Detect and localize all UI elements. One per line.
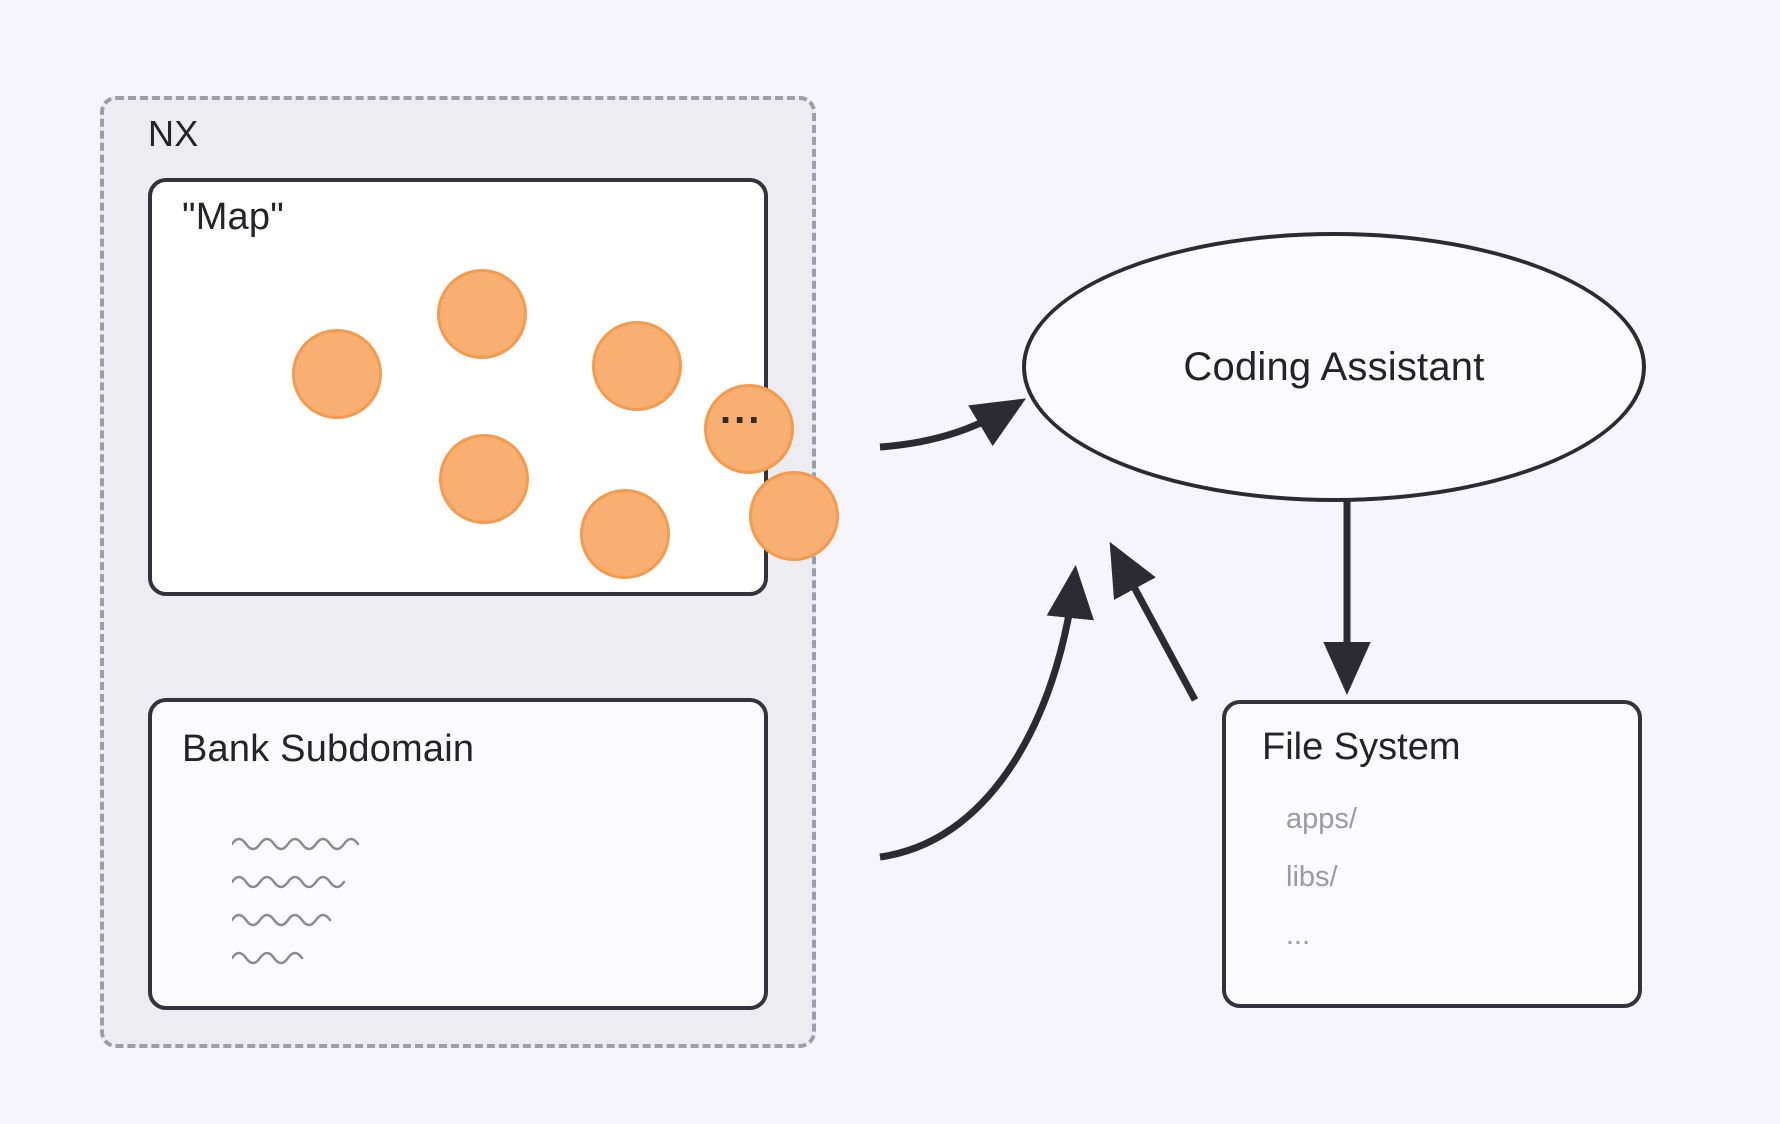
- map-ellipsis: ...: [720, 390, 762, 430]
- squiggle-line-4: [232, 953, 302, 963]
- graph-node-1[interactable]: [292, 329, 382, 419]
- edge-bank-to-assistant: [880, 572, 1075, 857]
- squiggle-line-1: [232, 839, 358, 849]
- list-item: ...: [1286, 920, 1357, 952]
- list-item: apps/: [1286, 804, 1357, 836]
- squiggle-line-2: [232, 877, 344, 887]
- graph-node-2[interactable]: [437, 269, 527, 359]
- graph-node-6[interactable]: [580, 489, 670, 579]
- bank-subdomain-card[interactable]: Bank Subdomain: [148, 698, 768, 1010]
- graph-node-4[interactable]: [439, 434, 529, 524]
- nx-label: NX: [148, 113, 199, 155]
- diagram-canvas: NX "Map" ... Bank Subdomain Coding Assis…: [0, 0, 1780, 1124]
- edge-filesystem-to-assistant: [1113, 548, 1195, 700]
- squiggle-line-3: [232, 915, 330, 925]
- map-card[interactable]: "Map" ...: [148, 178, 768, 596]
- file-system-list: apps/ libs/ ...: [1286, 804, 1357, 978]
- coding-assistant-node[interactable]: Coding Assistant: [1022, 232, 1646, 502]
- map-card-title: "Map": [182, 196, 284, 239]
- graph-node-7[interactable]: [749, 471, 839, 561]
- placeholder-squiggles: [232, 832, 432, 992]
- file-system-title: File System: [1262, 726, 1460, 769]
- edge-map-to-assistant: [880, 402, 1020, 447]
- list-item: libs/: [1286, 862, 1357, 894]
- coding-assistant-label: Coding Assistant: [1183, 345, 1484, 390]
- bank-subdomain-title: Bank Subdomain: [182, 728, 474, 771]
- graph-node-3[interactable]: [592, 321, 682, 411]
- file-system-card[interactable]: File System apps/ libs/ ...: [1222, 700, 1642, 1008]
